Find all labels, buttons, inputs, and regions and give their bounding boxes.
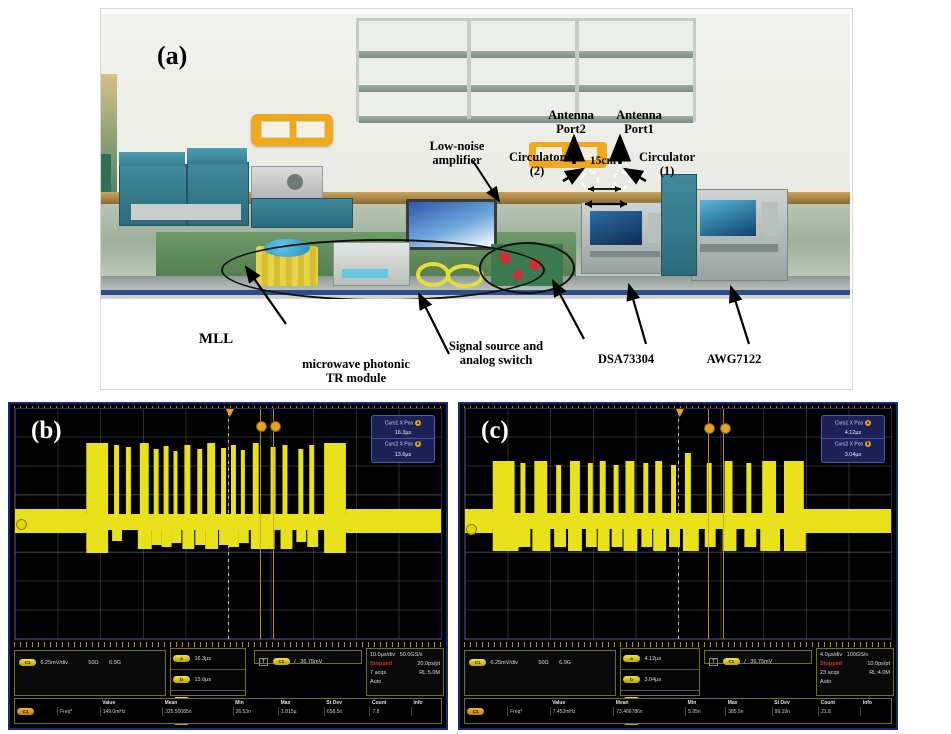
channel-settings-bar-c[interactable]: C1 6.25mV/div 50Ω 6.9G bbox=[464, 650, 616, 696]
measurement-min: 26.53n bbox=[233, 707, 279, 716]
cursor-readout-row: a 4.12µs bbox=[621, 649, 699, 670]
cursor-readout-value: 13.6µs bbox=[194, 677, 211, 683]
cursor-1-badge-b: a bbox=[415, 420, 421, 426]
measurement-info bbox=[411, 707, 441, 716]
label-antenna-port2: Antenna Port2 bbox=[533, 108, 609, 136]
acq-count-b: 7 acqs bbox=[370, 670, 386, 676]
cursor-readout-row: a 16.3µs bbox=[171, 649, 245, 670]
channel-bandwidth-c: 6.9G bbox=[559, 660, 571, 666]
mll-knob bbox=[287, 174, 303, 190]
resolution-c: 10.0ps/pt bbox=[867, 660, 890, 669]
waveform-display-b: (b) Curs1 X Posa 16.3µs Curs2 X Posb 13.… bbox=[14, 408, 442, 640]
cursor-2-value-c: 3.04µs bbox=[822, 450, 884, 460]
table-header-row: Value Mean Min Max St Dev Count Info bbox=[465, 699, 891, 707]
cursor-readout-badge: a bbox=[173, 655, 190, 662]
cursor-2-handle-c[interactable] bbox=[720, 423, 731, 434]
channel-bandwidth-b: 6.9G bbox=[109, 660, 121, 666]
measurement-count: 7.8 bbox=[370, 707, 411, 716]
cursor-1-label-c: Curs1 X Posa bbox=[822, 418, 884, 428]
acquisition-info-c: 4.0µs/div 100GS/s 10.0ps/pt Stopped 23 a… bbox=[816, 648, 894, 696]
label-tr-module: microwave photonic TR module bbox=[286, 357, 426, 385]
channel-ground-marker-c[interactable] bbox=[466, 524, 477, 535]
measurement-table-b[interactable]: Value Mean Min Max St Dev Count Info C1 … bbox=[14, 698, 442, 724]
cursor-2-badge-b: b bbox=[415, 441, 421, 447]
measurement-min: 5.95n bbox=[686, 707, 726, 716]
label-antenna-separation: 15cm bbox=[583, 155, 623, 168]
cursor-1-line-c[interactable] bbox=[708, 409, 709, 639]
table-row: C1 Freq* 149.0mHz 325.50085n 26.53n 1.81… bbox=[15, 707, 441, 716]
channel-impedance-c: 50Ω bbox=[538, 660, 548, 666]
resolution-b: 20.0ps/pt bbox=[417, 660, 440, 669]
trigger-level-b: 36.75mV bbox=[300, 659, 322, 665]
measurement-count: 21.8 bbox=[819, 707, 861, 716]
cursor-readout-box-b: Curs1 X Posa 16.3µs Curs2 X Posb 13.6µs bbox=[371, 415, 435, 463]
col-value: Value bbox=[550, 699, 614, 707]
cursor-2-line-c[interactable] bbox=[723, 409, 724, 639]
cursor-readout-badge: a bbox=[623, 655, 640, 662]
bench-shelf-left bbox=[131, 204, 241, 220]
instrument-teal-3 bbox=[251, 198, 353, 228]
record-length-c: RL:4.0M bbox=[869, 669, 890, 678]
col-max: Max bbox=[279, 699, 325, 707]
channel-badge-c: C1 bbox=[469, 659, 486, 666]
cursor-readout-value: 3.04µs bbox=[644, 677, 661, 683]
trigger-channel-badge-c: C1 bbox=[723, 658, 740, 665]
panel-a-letter: (a) bbox=[157, 41, 187, 71]
wall-shelf-unit bbox=[356, 18, 696, 122]
measurement-stdev: 99.19n bbox=[772, 707, 818, 716]
orange-wall-socket-box bbox=[251, 114, 333, 146]
measurement-mean: 73.466786n bbox=[614, 707, 686, 716]
panel-a-photo-container: (a) Low-noise amplifier Antenna Port2 An… bbox=[100, 8, 853, 390]
label-mll: MLL bbox=[171, 331, 261, 348]
acq-count-c: 23 acqs bbox=[820, 670, 839, 676]
trigger-level-c: 36.75mV bbox=[750, 659, 772, 665]
col-info: Info bbox=[411, 699, 441, 707]
cursor-readout-row: b 3.04µs bbox=[621, 670, 699, 691]
cursor-readout-value: 16.3µs bbox=[194, 656, 211, 662]
measurement-channel-badge: C1 bbox=[17, 708, 34, 715]
measurement-max: 1.815µ bbox=[279, 707, 325, 716]
measurement-name: Freq* bbox=[508, 707, 551, 716]
cursor-readout-badge: b bbox=[623, 676, 640, 683]
waveform-display-c: (c) Curs1 X Posa 4.12µs Curs2 X Posb 3.0… bbox=[464, 408, 892, 640]
channel-scale-b: 6.25mV/div bbox=[40, 660, 68, 666]
awg7122-generator bbox=[691, 189, 788, 281]
col-count: Count bbox=[370, 699, 411, 707]
measurement-channel-badge: C1 bbox=[467, 708, 484, 715]
trigger-settings-bar-c[interactable]: T C1 / 36.75mV bbox=[704, 650, 812, 664]
measurement-value: 7.453mHz bbox=[550, 707, 614, 716]
trigger-source-icon-c: T bbox=[709, 658, 718, 666]
col-max: Max bbox=[726, 699, 772, 707]
col-min: Min bbox=[686, 699, 726, 707]
measurement-table-c[interactable]: Value Mean Min Max St Dev Count Info C1 … bbox=[464, 698, 892, 724]
trigger-slope-icon-c: / bbox=[744, 659, 746, 665]
circulator-2-device bbox=[581, 171, 599, 189]
channel-impedance-b: 50Ω bbox=[88, 660, 98, 666]
trigger-mode-b: Auto bbox=[370, 678, 440, 687]
measurement-stdev: 658.5n bbox=[324, 707, 370, 716]
channel-scale-c: 6.25mV/div bbox=[490, 660, 518, 666]
label-low-noise-amplifier: Low-noise amplifier bbox=[409, 139, 505, 167]
cursor-readout-badge: b bbox=[173, 676, 190, 683]
label-circulator-1: Circulator (1) bbox=[626, 150, 708, 178]
channel-badge-b: C1 bbox=[19, 659, 36, 666]
trigger-slope-icon-b: / bbox=[294, 659, 296, 665]
trigger-source-icon-b: T bbox=[259, 658, 268, 666]
dsa73304-oscilloscope bbox=[581, 202, 673, 274]
measurement-value: 149.0mHz bbox=[100, 707, 162, 716]
annotation-ellipse-signal-source bbox=[479, 242, 575, 294]
timebase-b: 10.0µs/div bbox=[370, 652, 395, 658]
instrument-rack-right bbox=[661, 174, 697, 276]
cursor-readout-row: b 13.6µs bbox=[171, 670, 245, 691]
table-row: C1 Freq* 7.453mHz 73.466786n 5.95n 385.5… bbox=[465, 707, 891, 716]
instrument-teal-2-top bbox=[187, 148, 247, 164]
col-mean: Mean bbox=[163, 699, 234, 707]
label-antenna-port1: Antenna Port1 bbox=[601, 108, 677, 136]
col-mean: Mean bbox=[614, 699, 686, 707]
label-signal-source: Signal source and analog switch bbox=[431, 339, 561, 367]
panel-b-letter: (b) bbox=[31, 417, 62, 445]
panel-b-oscilloscope-screenshot: (b) Curs1 X Posa 16.3µs Curs2 X Posb 13.… bbox=[8, 402, 448, 730]
measurement-mean: 325.50085n bbox=[163, 707, 234, 716]
cursor-2-value-b: 13.6µs bbox=[372, 450, 434, 460]
measurement-info bbox=[861, 707, 891, 716]
label-circulator-2: Circulator (2) bbox=[496, 150, 578, 178]
col-value: Value bbox=[100, 699, 162, 707]
measurement-name: Freq* bbox=[58, 707, 101, 716]
col-stdev: St Dev bbox=[324, 699, 370, 707]
acquisition-info-b: 10.0µs/div 50.0GS/s 20.0ps/pt Stopped 7 … bbox=[366, 648, 444, 696]
cursor-readout-box-c: Curs1 X Posa 4.12µs Curs2 X Posb 3.04µs bbox=[821, 415, 885, 463]
col-info: Info bbox=[861, 699, 891, 707]
col-min: Min bbox=[233, 699, 279, 707]
panel-c-letter: (c) bbox=[481, 417, 509, 445]
trigger-settings-bar-b[interactable]: T C1 / 36.75mV bbox=[254, 650, 362, 664]
trigger-mode-c: Auto bbox=[820, 678, 890, 687]
cursor-1-badge-c: a bbox=[865, 420, 871, 426]
label-dsa73304: DSA73304 bbox=[581, 352, 671, 366]
cursor-2-handle-b[interactable] bbox=[270, 421, 281, 432]
cursor-2-line-b[interactable] bbox=[273, 409, 274, 639]
cursor-1-handle-c[interactable] bbox=[704, 423, 715, 434]
col-count: Count bbox=[819, 699, 861, 707]
cursor-1-handle-b[interactable] bbox=[256, 421, 267, 432]
cursor-1-value-b: 16.3µs bbox=[372, 428, 434, 439]
trigger-channel-badge-b: C1 bbox=[273, 658, 290, 665]
label-awg7122: AWG7122 bbox=[689, 352, 779, 366]
record-length-b: RL:5.0M bbox=[419, 669, 440, 678]
channel-settings-bar-b[interactable]: C1 6.25mV/div 50Ω 6.9G bbox=[14, 650, 166, 696]
samplerate-b: 50.0GS/s bbox=[400, 652, 423, 658]
panel-c-oscilloscope-screenshot: (c) Curs1 X Posa 4.12µs Curs2 X Posb 3.0… bbox=[458, 402, 898, 730]
cursor-readout-value: 4.12µs bbox=[644, 656, 661, 662]
table-header-row: Value Mean Min Max St Dev Count Info bbox=[15, 699, 441, 707]
col-stdev: St Dev bbox=[772, 699, 818, 707]
cursor-1-value-c: 4.12µs bbox=[822, 428, 884, 439]
cursor-2-label-b: Curs2 X Posb bbox=[372, 439, 434, 449]
instrument-teal-1-top bbox=[119, 152, 185, 166]
cursor-2-badge-c: b bbox=[865, 441, 871, 447]
timebase-c: 4.0µs/div bbox=[820, 652, 842, 658]
samplerate-c: 100GS/s bbox=[847, 652, 868, 658]
cursor-1-label-b: Curs1 X Posa bbox=[372, 418, 434, 428]
cursor-value-list-b: a 16.3µs b 13.6µs Δ -2.7µs 1/Δ 370.37kHz bbox=[170, 648, 246, 696]
cursor-value-list-c: a 4.12µs b 3.04µs Δ -1.08µs 1/Δ 925.926k… bbox=[620, 648, 700, 696]
cursor-1-line-b[interactable] bbox=[260, 409, 261, 639]
cursor-2-label-c: Curs2 X Posb bbox=[822, 439, 884, 449]
measurement-max: 385.5n bbox=[726, 707, 772, 716]
